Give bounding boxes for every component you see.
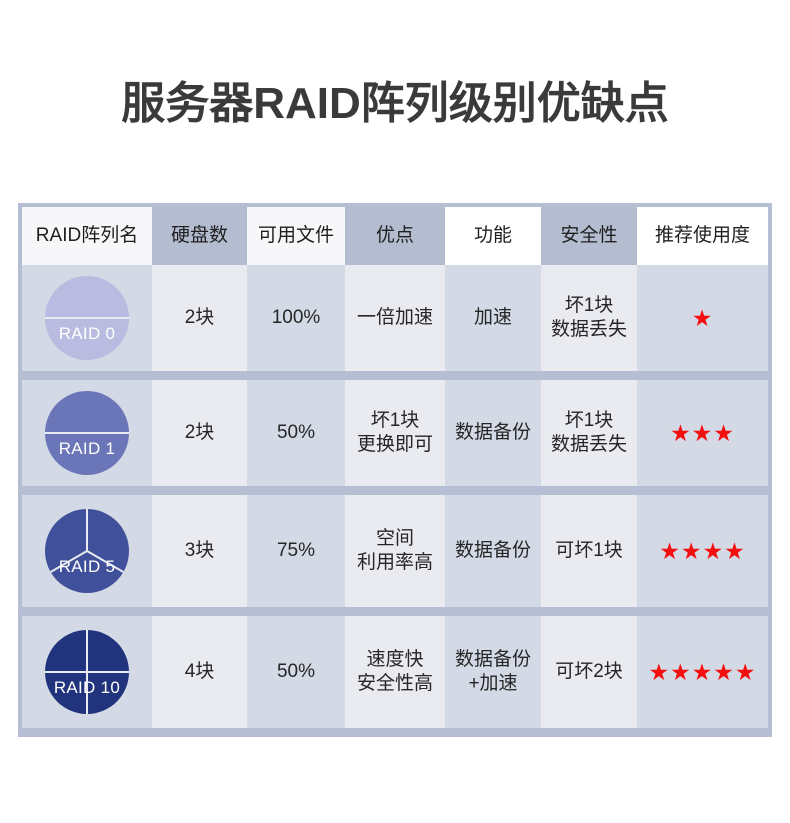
disc-split-horizontal	[45, 317, 129, 319]
safety-cell: 坏1块 数据丢失	[541, 380, 637, 486]
table-header-cell-function: 功能	[445, 207, 541, 265]
usable-cell: 75%	[247, 495, 345, 607]
disk-count-cell: 2块	[152, 265, 247, 371]
table-header-cell-safety: 安全性	[541, 207, 637, 265]
raid-disc-label: RAID 1	[45, 440, 129, 457]
table-row: RAID 5 3块 75% 空间 利用率高 数据备份 可坏1块 ★★★★	[22, 495, 768, 607]
usable-cell: 100%	[247, 265, 345, 371]
raid-disc-label: RAID 0	[45, 325, 129, 342]
safety-cell: 可坏1块	[541, 495, 637, 607]
raid-name-cell: RAID 1	[22, 380, 152, 486]
pros-cell: 一倍加速	[345, 265, 445, 371]
function-cell: 数据备份	[445, 495, 541, 607]
raid-disc-icon: RAID 1	[45, 391, 129, 475]
row-separator	[22, 607, 768, 616]
rating-stars: ★★★	[670, 422, 735, 445]
usable-cell: 50%	[247, 616, 345, 728]
pros-cell: 坏1块 更换即可	[345, 380, 445, 486]
raid-name-cell: RAID 10	[22, 616, 152, 728]
rating-cell: ★★★	[637, 380, 768, 486]
function-cell: 数据备份	[445, 380, 541, 486]
table-header-row: RAID阵列名 硬盘数 可用文件 优点 功能 安全性 推荐使用度	[22, 207, 768, 265]
raid-disc-icon: RAID 0	[45, 276, 129, 360]
raid-disc-label: RAID 10	[45, 679, 129, 696]
table-header-cell-disk-count: 硬盘数	[152, 207, 247, 265]
page-root: 服务器RAID阵列级别优缺点 RAID阵列名 硬盘数 可用文件 优点 功能 安全…	[0, 0, 790, 823]
row-separator	[22, 371, 768, 380]
rating-stars: ★	[692, 307, 714, 330]
disk-count-cell: 2块	[152, 380, 247, 486]
table-header-cell-usable: 可用文件	[247, 207, 345, 265]
rating-stars: ★★★★★	[648, 661, 756, 684]
rating-cell: ★	[637, 265, 768, 371]
function-cell: 加速	[445, 265, 541, 371]
pros-cell: 空间 利用率高	[345, 495, 445, 607]
page-title: 服务器RAID阵列级别优缺点	[0, 78, 790, 130]
raid-name-cell: RAID 5	[22, 495, 152, 607]
rating-cell: ★★★★★	[637, 616, 768, 728]
disc-split-vertical	[86, 630, 88, 714]
table-inner: RAID阵列名 硬盘数 可用文件 优点 功能 安全性 推荐使用度 RAID 0 …	[22, 207, 768, 733]
disk-count-cell: 4块	[152, 616, 247, 728]
safety-cell: 坏1块 数据丢失	[541, 265, 637, 371]
disc-spoke-up	[86, 509, 88, 551]
raid-disc-label: RAID 5	[45, 558, 129, 575]
raid-name-cell: RAID 0	[22, 265, 152, 371]
row-separator	[22, 486, 768, 495]
rating-stars: ★★★★	[659, 540, 745, 563]
table-row: RAID 10 4块 50% 速度快 安全性高 数据备份 +加速 可坏2块 ★★…	[22, 616, 768, 728]
usable-cell: 50%	[247, 380, 345, 486]
safety-cell: 可坏2块	[541, 616, 637, 728]
raid-comparison-table: RAID阵列名 硬盘数 可用文件 优点 功能 安全性 推荐使用度 RAID 0 …	[18, 203, 772, 737]
function-cell: 数据备份 +加速	[445, 616, 541, 728]
table-header-cell-raid-name: RAID阵列名	[22, 207, 152, 265]
table-header-cell-rating: 推荐使用度	[637, 207, 768, 265]
pros-cell: 速度快 安全性高	[345, 616, 445, 728]
rating-cell: ★★★★	[637, 495, 768, 607]
disk-count-cell: 3块	[152, 495, 247, 607]
raid-disc-icon: RAID 5	[45, 509, 129, 593]
table-header-cell-pros: 优点	[345, 207, 445, 265]
table-row: RAID 1 2块 50% 坏1块 更换即可 数据备份 坏1块 数据丢失 ★★★	[22, 380, 768, 486]
table-row: RAID 0 2块 100% 一倍加速 加速 坏1块 数据丢失 ★	[22, 265, 768, 371]
disc-split-horizontal	[45, 432, 129, 434]
raid-disc-icon: RAID 10	[45, 630, 129, 714]
